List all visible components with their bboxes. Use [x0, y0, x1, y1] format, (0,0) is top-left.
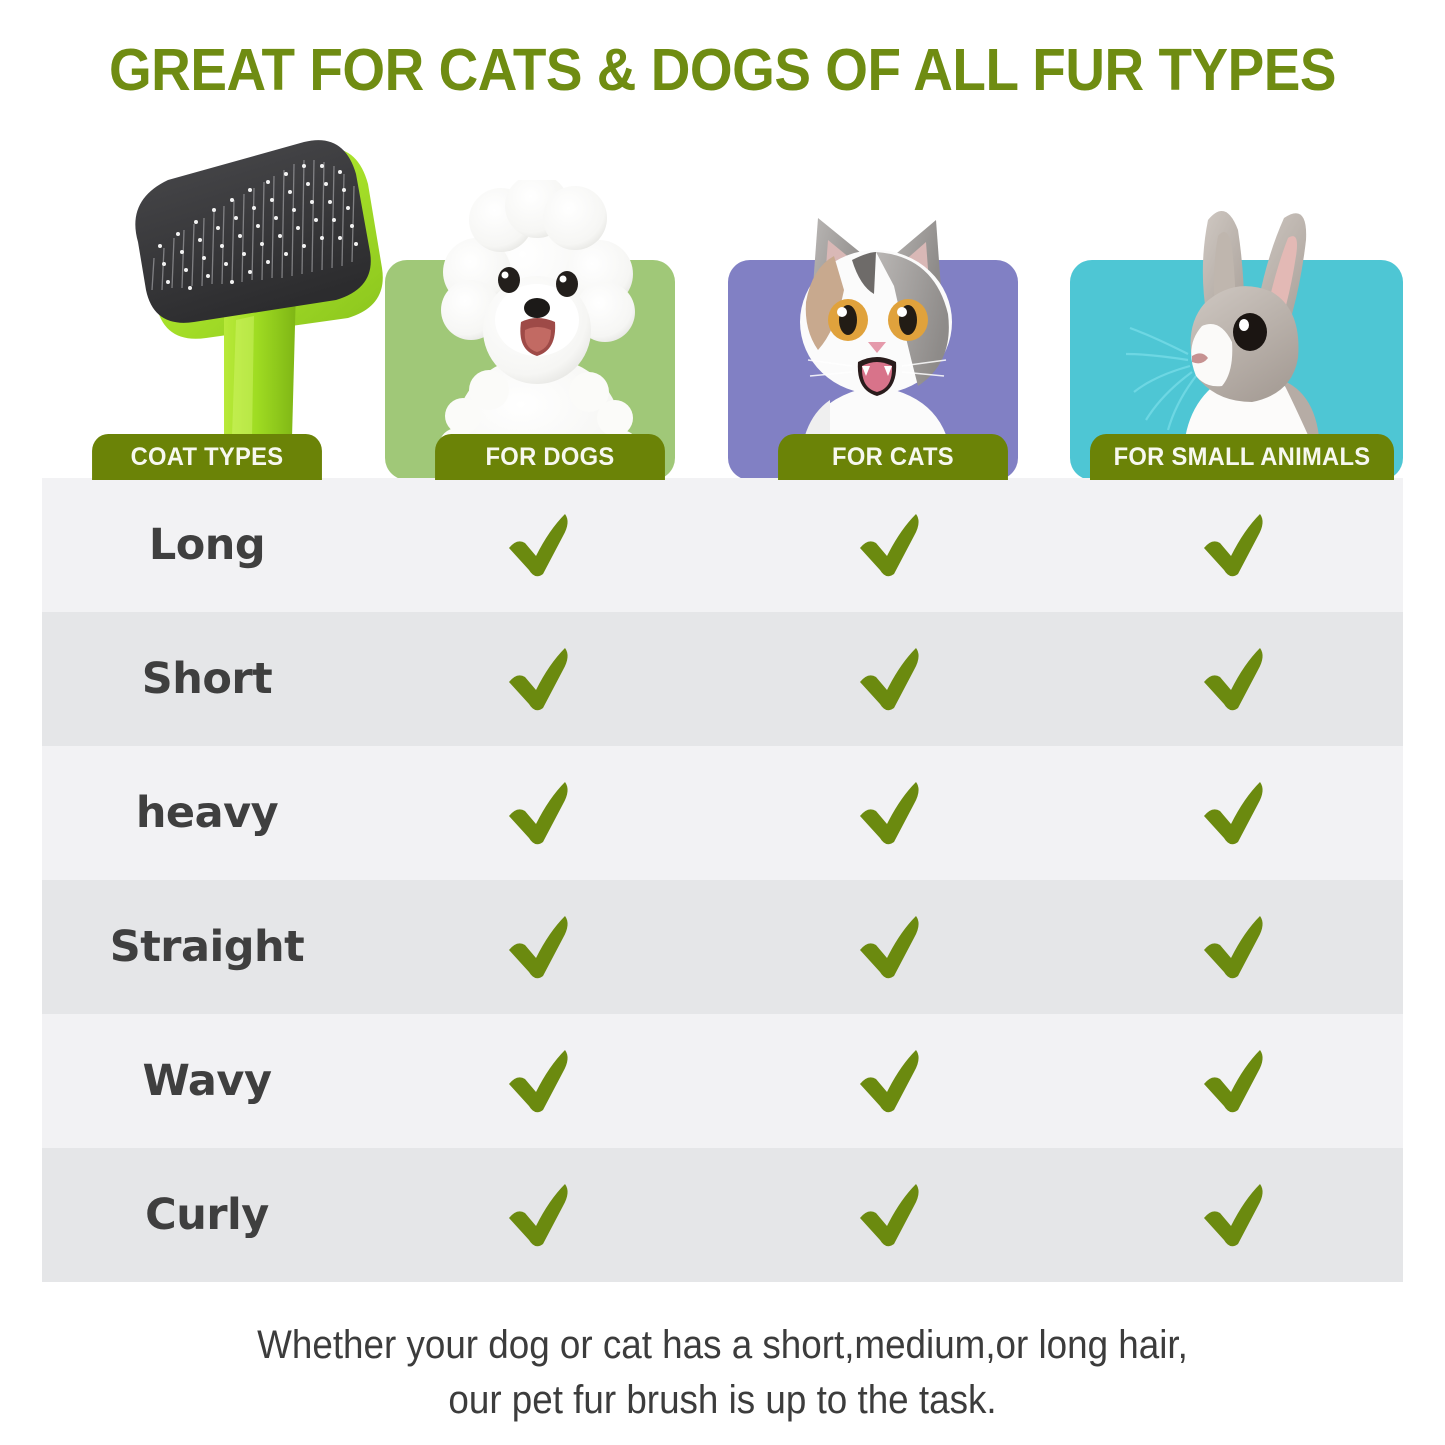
table-row: Long [42, 478, 1403, 612]
header-banner-coat-types[interactable]: COAT TYPES [92, 434, 322, 480]
coat-type-label: Curly [42, 1190, 372, 1240]
check-icon [503, 1044, 577, 1118]
check-icon [503, 1178, 577, 1252]
column-dogs: FOR DOGS [385, 130, 715, 480]
table-row: Short [42, 612, 1403, 746]
check-icon [1198, 776, 1272, 850]
header-banner-small-animals[interactable]: FOR SMALL ANIMALS [1090, 434, 1394, 480]
check-icon [503, 642, 577, 716]
header-banner-label: COAT TYPES [131, 443, 284, 472]
table-row: Straight [42, 880, 1403, 1014]
check-icon [854, 1178, 928, 1252]
footer-line-2: our pet fur brush is up to the task. [58, 1373, 1387, 1428]
footer-text: Whether your dog or cat has a short,medi… [58, 1318, 1387, 1428]
check-icon [1198, 1044, 1272, 1118]
check-icon [854, 642, 928, 716]
check-icon [503, 910, 577, 984]
header-banner-label: FOR SMALL ANIMALS [1114, 443, 1371, 472]
slicker-brush-icon [120, 138, 390, 458]
coat-types-table: Long Short heavy [42, 478, 1403, 1282]
check-icon [854, 508, 928, 582]
coat-type-label: Straight [42, 922, 372, 972]
check-icon [854, 776, 928, 850]
check-icon [854, 1044, 928, 1118]
check-icon [1198, 508, 1272, 582]
table-row: heavy [42, 746, 1403, 880]
coat-type-label: Wavy [42, 1056, 372, 1106]
header-banner-label: FOR DOGS [486, 443, 615, 472]
header-banner-cats[interactable]: FOR CATS [778, 434, 1008, 480]
header-strip: COAT TYPES [0, 130, 1445, 480]
header-banner-dogs[interactable]: FOR DOGS [435, 434, 665, 480]
coat-type-label: Long [42, 520, 372, 570]
page-title: GREAT FOR CATS & DOGS OF ALL FUR TYPES [51, 36, 1395, 104]
column-cats: FOR CATS [728, 130, 1058, 480]
table-row: Curly [42, 1148, 1403, 1282]
check-icon [503, 776, 577, 850]
coat-type-label: Short [42, 654, 372, 704]
coat-type-label: heavy [42, 788, 372, 838]
check-icon [1198, 910, 1272, 984]
column-coat-types: COAT TYPES [42, 130, 372, 480]
footer-line-1: Whether your dog or cat has a short,medi… [58, 1318, 1387, 1373]
column-small-animals: FOR SMALL ANIMALS [1070, 130, 1405, 480]
table-row: Wavy [42, 1014, 1403, 1148]
check-icon [503, 508, 577, 582]
check-icon [1198, 642, 1272, 716]
check-icon [854, 910, 928, 984]
header-banner-label: FOR CATS [832, 443, 954, 472]
check-icon [1198, 1178, 1272, 1252]
